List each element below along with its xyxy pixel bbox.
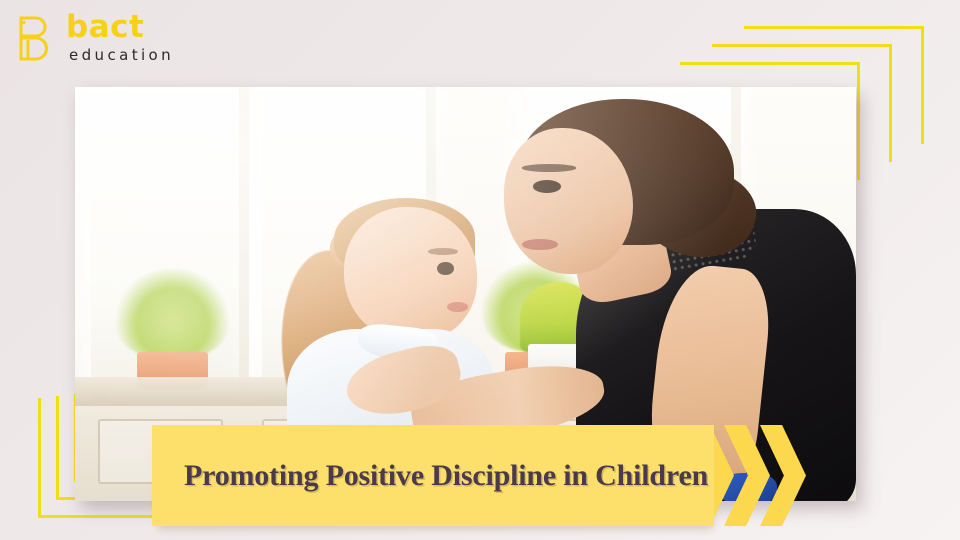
child-eye [437,262,453,275]
slide-canvas: bact education [0,0,960,540]
child-eyebrow [428,248,458,255]
window-mullion-1 [239,87,249,393]
bact-monogram-b-icon [14,14,58,62]
child-lips [447,302,468,312]
brand-subtitle: education [69,48,174,63]
child-face [344,207,478,342]
adult-eyebrow [522,164,576,171]
adult-lips [522,239,558,250]
brand-wordmark: bact [66,12,144,43]
title-banner: Promoting Positive Discipline in Childre… [152,425,772,530]
plant-foliage-left [114,269,231,360]
brand-logo[interactable]: bact education [14,10,214,72]
slide-title: Promoting Positive Discipline in Childre… [184,425,708,526]
